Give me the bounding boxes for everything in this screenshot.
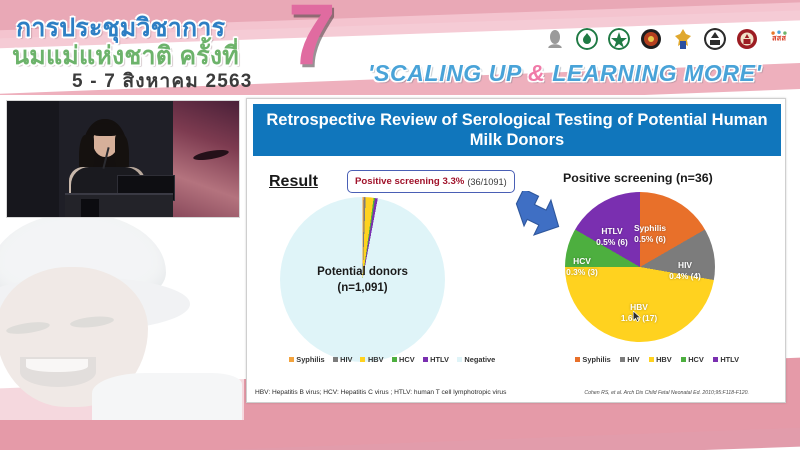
legend-swatch-hbv-right xyxy=(649,357,654,362)
sponsor-logo-row: สสส xyxy=(542,24,792,54)
legend-label-hbv-left: HBV xyxy=(368,355,384,364)
legend-swatch-htlv-right xyxy=(713,357,718,362)
tagline-ampersand: & xyxy=(528,60,545,86)
legend-item-hcv-right: HCV xyxy=(681,355,704,364)
slice-label-htlv: HTLV 0.5% (6) xyxy=(587,226,637,249)
conference-tagline: 'SCALING UP & LEARNING MORE' xyxy=(368,60,762,87)
legend-item-syphilis-left: Syphilis xyxy=(289,355,325,364)
legend-swatch-syphilis-right xyxy=(575,357,580,362)
slice-name-htlv: HTLV xyxy=(587,226,637,237)
legend-swatch-hcv-right xyxy=(681,357,686,362)
conference-edition-number: 7 xyxy=(288,0,336,78)
slice-label-hcv: HCV 0.3% (3) xyxy=(559,256,605,279)
legend-item-hbv-left: HBV xyxy=(360,355,383,364)
child-watermark-image xyxy=(0,205,244,420)
royal-garuda-logo xyxy=(670,24,696,54)
potential-donors-label-line2: (n=1,091) xyxy=(280,280,445,296)
legend-label-hcv-right: HCV xyxy=(688,355,704,364)
slice-name-hiv: HIV xyxy=(661,260,709,271)
legend-swatch-htlv-left xyxy=(423,357,428,362)
presentation-slide: Retrospective Review of Serological Test… xyxy=(246,98,786,403)
tagline-part1: 'SCALING UP xyxy=(368,60,528,86)
bangkok-emblem-logo xyxy=(638,24,664,54)
positive-screening-callout: Positive screening 3.3% (36/1091) xyxy=(347,170,515,193)
legend-item-syphilis-right: Syphilis xyxy=(575,355,611,364)
legend-label-syphilis-left: Syphilis xyxy=(296,355,324,364)
mouse-cursor-icon xyxy=(633,311,642,323)
video-left-wall xyxy=(7,101,59,217)
legend-item-htlv-right: HTLV xyxy=(713,355,739,364)
royal-college-pediatricians-logo xyxy=(734,24,760,54)
svg-text:สสส: สสส xyxy=(772,34,786,43)
slide-title: Retrospective Review of Serological Test… xyxy=(253,104,781,156)
legend-item-hcv-left: HCV xyxy=(392,355,415,364)
potential-donors-label-line1: Potential donors xyxy=(280,264,445,280)
royal-patronage-logo xyxy=(542,24,568,54)
conference-date: 5 - 7 สิงหาคม 2563 xyxy=(72,66,253,95)
conference-header-banner: การประชุมวิชาการ นมแม่แห่งชาติ ครั้งที่ … xyxy=(0,0,800,95)
legend-label-htlv-left: HTLV xyxy=(430,355,449,364)
legend-label-hiv-left: HIV xyxy=(340,355,352,364)
mahidol-university-logo xyxy=(702,24,728,54)
thaihealth-sss-logo: สสส xyxy=(766,24,792,54)
legend-item-negative-left: Negative xyxy=(457,355,495,364)
potential-donors-pie-label: Potential donors (n=1,091) xyxy=(280,264,445,296)
legend-swatch-hcv-left xyxy=(392,357,397,362)
legend-swatch-syphilis-left xyxy=(289,357,294,362)
slice-label-hiv: HIV 0.4% (4) xyxy=(661,260,709,283)
callout-text: Positive screening 3.3% xyxy=(355,176,464,187)
result-heading: Result xyxy=(269,173,318,191)
legend-swatch-hiv-left xyxy=(333,357,338,362)
legend-swatch-hbv-left xyxy=(360,357,365,362)
legend-label-hbv-right: HBV xyxy=(656,355,672,364)
legend-item-htlv-left: HTLV xyxy=(423,355,449,364)
legend-label-syphilis-right: Syphilis xyxy=(582,355,610,364)
legend-item-hiv-left: HIV xyxy=(333,355,353,364)
speaker-video-feed[interactable] xyxy=(6,100,240,218)
legend-item-hiv-right: HIV xyxy=(620,355,640,364)
slice-value-htlv: 0.5% (6) xyxy=(587,237,637,248)
legend-swatch-negative-left xyxy=(457,357,462,362)
legend-swatch-hiv-right xyxy=(620,357,625,362)
legend-potential-donors: Syphilis HIV HBV HCV HTLV Negative xyxy=(267,355,517,364)
ministry-health-logo xyxy=(606,24,632,54)
slice-name-hcv: HCV xyxy=(559,256,605,267)
tagline-part2: LEARNING MORE' xyxy=(545,60,761,86)
positive-screening-chart-title: Positive screening (n=36) xyxy=(563,171,713,185)
abbreviation-note: HBV: Hepatitis B virus; HCV: Hepatitis C… xyxy=(255,389,506,396)
legend-item-hbv-right: HBV xyxy=(649,355,672,364)
callout-fraction: (36/1091) xyxy=(467,177,506,187)
source-citation: Cohen RS, et al. Arch Dis Child Fetal Ne… xyxy=(584,390,749,396)
presentation-stage: การประชุมวิชาการ นมแม่แห่งชาติ ครั้งที่ … xyxy=(0,0,800,450)
legend-label-htlv-right: HTLV xyxy=(720,355,739,364)
slice-value-hcv: 0.3% (3) xyxy=(559,267,605,278)
slice-value-hiv: 0.4% (4) xyxy=(661,271,709,282)
slide-footnote: HBV: Hepatitis B virus; HCV: Hepatitis C… xyxy=(255,389,777,396)
legend-label-hcv-left: HCV xyxy=(399,355,415,364)
legend-positive-screening: Syphilis HIV HBV HCV HTLV xyxy=(537,355,777,364)
thai-breastfeeding-centre-logo xyxy=(574,24,600,54)
legend-label-hiv-right: HIV xyxy=(627,355,639,364)
podium-detail xyxy=(81,199,99,218)
flow-arrow-icon xyxy=(509,191,565,239)
legend-label-negative-left: Negative xyxy=(464,355,495,364)
